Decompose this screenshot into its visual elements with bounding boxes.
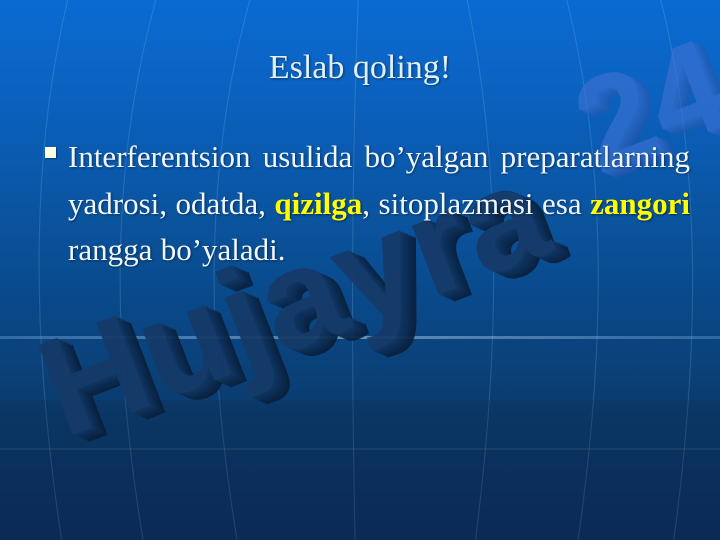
highlighted-term: zangori [590,186,690,221]
bullet-text-run: , sitoplazmasi esa [362,186,590,221]
bullet-text: Interferentsion usulida bo’yalgan prepar… [68,134,690,274]
slide-canvas: 24 Hujayra Eslab qoling! Interferentsion… [0,0,720,540]
bullet-text-run: rangga bo’yaladi. [68,232,286,267]
highlighted-term: qizilga [274,186,362,221]
square-bullet-icon [45,147,56,158]
slide-title: Eslab qoling! [0,48,720,87]
bullet-list-item: Interferentsion usulida bo’yalgan prepar… [40,134,690,274]
slide-body: Interferentsion usulida bo’yalgan prepar… [40,134,690,274]
